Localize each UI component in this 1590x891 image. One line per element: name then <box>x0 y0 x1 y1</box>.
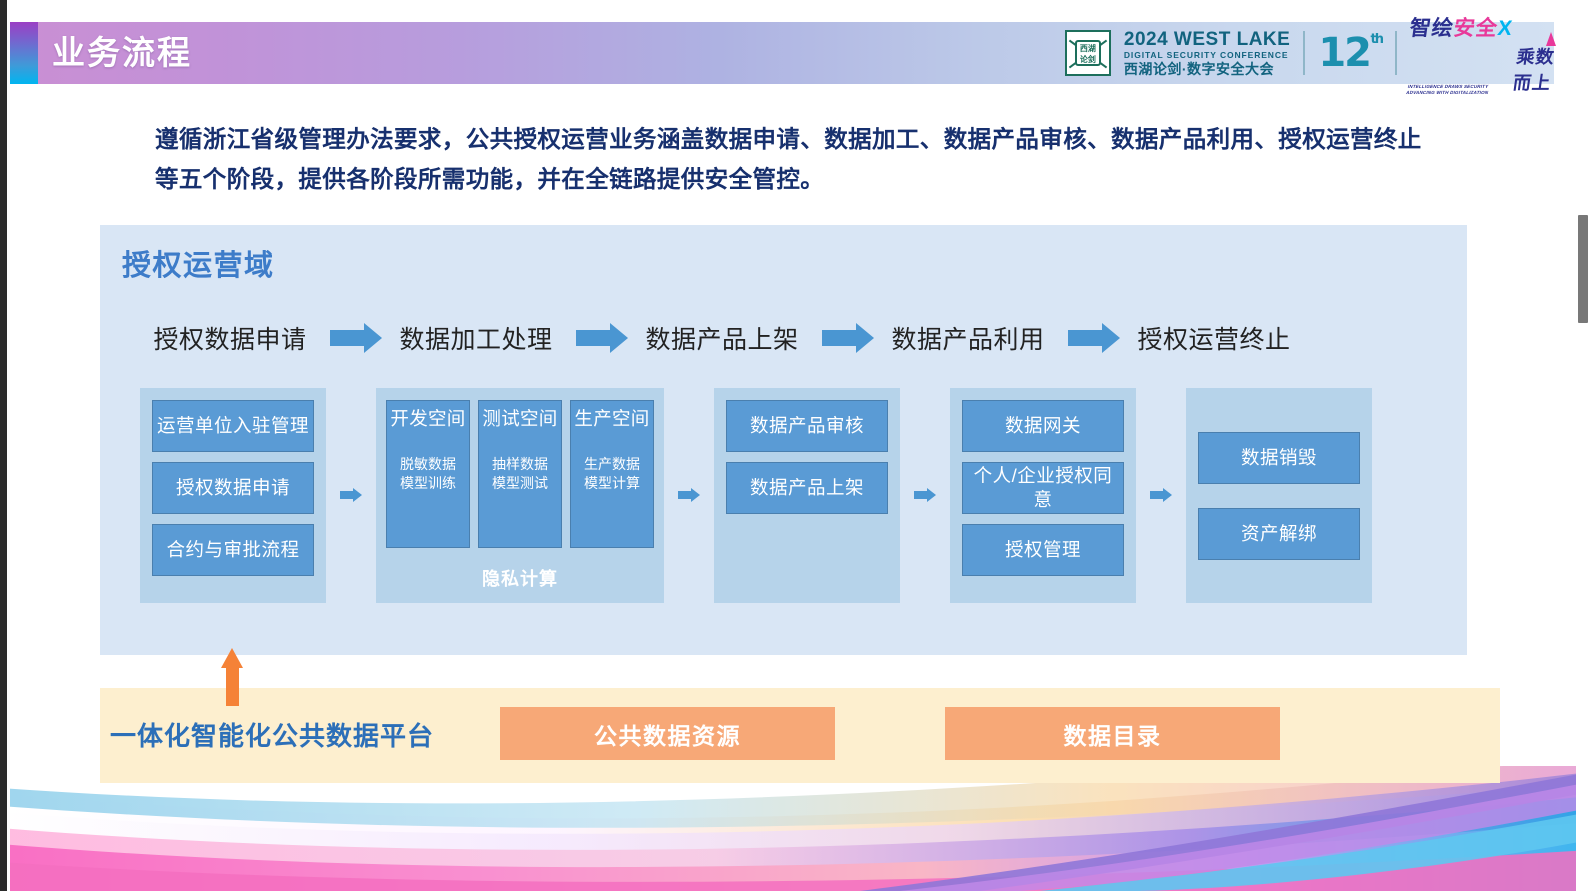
privacy-compute-caption: 隐私计算 <box>482 565 558 591</box>
seal-core-text: 西湖论剑 <box>1075 40 1101 66</box>
stage-label-1: 授权数据申请 <box>135 320 325 356</box>
upward-arrow-shaft <box>226 666 239 706</box>
stage-arrow-icon-2 <box>571 324 627 352</box>
box-operator-onboarding[interactable]: 运营单位入驻管理 <box>152 400 314 452</box>
conference-logo: 西湖论剑 2024 WEST LAKE DIGITAL SECURITY CON… <box>1065 24 1562 82</box>
space-development-title: 开发空间 <box>390 407 465 431</box>
column-product-listing: 数据产品审核 数据产品上架 <box>714 388 900 603</box>
page-title: 业务流程 <box>52 27 192 79</box>
column-connector-4 <box>1136 388 1186 603</box>
slogan-line-2: 乘数而上 <box>1511 43 1565 95</box>
stage-columns: 运营单位入驻管理 授权数据申请 合约与审批流程 开发空间 脱敏数据 模型训练 测… <box>140 388 1430 603</box>
slogan-part-a: 智绘 <box>1408 17 1455 40</box>
panel-title: 授权运营域 <box>122 242 275 284</box>
window-left-edge-inner <box>7 0 10 891</box>
column-connector-1 <box>326 388 376 603</box>
edition-number: 12th <box>1318 30 1382 76</box>
mini-arrow-icon-1 <box>340 491 362 501</box>
box-data-request[interactable]: 授权数据申请 <box>152 462 314 514</box>
column-authorized-apply: 运营单位入驻管理 授权数据申请 合约与审批流程 <box>140 388 326 603</box>
space-testing[interactable]: 测试空间 抽样数据 模型测试 <box>478 400 562 548</box>
lead-paragraph: 遵循浙江省级管理办法要求，公共授权运营业务涵盖数据申请、数据加工、数据产品审核、… <box>155 119 1435 199</box>
slogan-part-b: 安全 <box>1452 17 1499 40</box>
ribbon-svg <box>0 766 1590 891</box>
space-production[interactable]: 生产空间 生产数据 模型计算 <box>570 400 654 548</box>
box-authorization-management[interactable]: 授权管理 <box>962 524 1124 576</box>
mini-arrow-icon-4 <box>1150 491 1172 501</box>
upward-arrow-icon <box>221 648 243 706</box>
stage-label-3: 数据产品上架 <box>627 320 817 356</box>
box-consent-authorization[interactable]: 个人/企业授权同意 <box>962 462 1124 514</box>
box-contract-approval[interactable]: 合约与审批流程 <box>152 524 314 576</box>
scrollbar-track[interactable] <box>1576 0 1590 891</box>
box-data-destruction[interactable]: 数据销毁 <box>1198 432 1360 484</box>
column-data-processing: 开发空间 脱敏数据 模型训练 测试空间 抽样数据 模型测试 生产空间 生产数据 … <box>376 388 664 603</box>
chip-data-catalog[interactable]: 数据目录 <box>945 707 1280 760</box>
stage-label-2: 数据加工处理 <box>381 320 571 356</box>
window-left-edge <box>0 0 7 891</box>
column-product-usage: 数据网关 个人/企业授权同意 授权管理 <box>950 388 1136 603</box>
slogan-line-1: 智绘安全X <box>1408 12 1564 42</box>
edition-suffix: th <box>1371 32 1382 47</box>
space-testing-desc: 抽样数据 模型测试 <box>492 455 548 493</box>
column-connector-3 <box>900 388 950 603</box>
space-development[interactable]: 开发空间 脱敏数据 模型训练 <box>386 400 470 548</box>
column-connector-2 <box>664 388 714 603</box>
decorative-ribbons <box>0 766 1590 891</box>
stage-arrow-icon-4 <box>1063 324 1119 352</box>
slogan-lockup: 智绘安全X INTELLIGENCE DRAWS SECURITY ADVANC… <box>1410 28 1562 78</box>
stage-label-5: 授权运营终止 <box>1119 320 1309 356</box>
upward-arrow-head <box>221 648 243 668</box>
mini-arrow-icon-3 <box>914 491 936 501</box>
box-asset-unbinding[interactable]: 资产解绑 <box>1198 508 1360 560</box>
logo-line-2: DIGITAL SECURITY CONFERENCE <box>1124 51 1290 60</box>
slogan-line-2-row: INTELLIGENCE DRAWS SECURITY ADVANCING WI… <box>1406 43 1565 95</box>
scrollbar-thumb[interactable] <box>1578 215 1588 323</box>
space-testing-title: 测试空间 <box>482 407 557 431</box>
stage-arrow-icon-1 <box>325 324 381 352</box>
stage-label-4: 数据产品利用 <box>873 320 1063 356</box>
box-product-publish[interactable]: 数据产品上架 <box>726 462 888 514</box>
platform-band-title: 一体化智能化公共数据平台 <box>110 716 434 753</box>
edition-number-value: 12 <box>1318 30 1370 76</box>
seal-icon: 西湖论剑 <box>1065 30 1111 76</box>
space-production-desc: 生产数据 模型计算 <box>584 455 640 493</box>
logo-text-block: 2024 WEST LAKE DIGITAL SECURITY CONFEREN… <box>1124 30 1290 77</box>
space-production-title: 生产空间 <box>574 407 649 431</box>
slogan-arrow-icon <box>1546 32 1556 46</box>
stage-label-row: 授权数据申请 数据加工处理 数据产品上架 数据产品利用 授权运营终止 <box>135 315 1435 361</box>
logo-line-3: 西湖论剑·数字安全大会 <box>1124 62 1290 76</box>
slide-canvas: 业务流程 西湖论剑 2024 WEST LAKE DIGITAL SECURIT… <box>0 0 1590 891</box>
box-product-review[interactable]: 数据产品审核 <box>726 400 888 452</box>
logo-line-1: 2024 WEST LAKE <box>1124 30 1290 49</box>
column-termination: 数据销毁 资产解绑 <box>1186 388 1372 603</box>
box-data-gateway[interactable]: 数据网关 <box>962 400 1124 452</box>
logo-divider-2 <box>1395 31 1397 75</box>
logo-divider-1 <box>1303 31 1305 75</box>
privacy-compute-group: 开发空间 脱敏数据 模型训练 测试空间 抽样数据 模型测试 生产空间 生产数据 … <box>386 400 654 548</box>
slogan-part-c: X <box>1496 17 1514 40</box>
slogan-fineprint: INTELLIGENCE DRAWS SECURITY ADVANCING WI… <box>1406 84 1510 95</box>
mini-arrow-icon-2 <box>678 491 700 501</box>
stage-arrow-icon-3 <box>817 324 873 352</box>
header-accent-tab <box>10 22 38 84</box>
space-development-desc: 脱敏数据 模型训练 <box>400 455 456 493</box>
chip-public-data-resource[interactable]: 公共数据资源 <box>500 707 835 760</box>
